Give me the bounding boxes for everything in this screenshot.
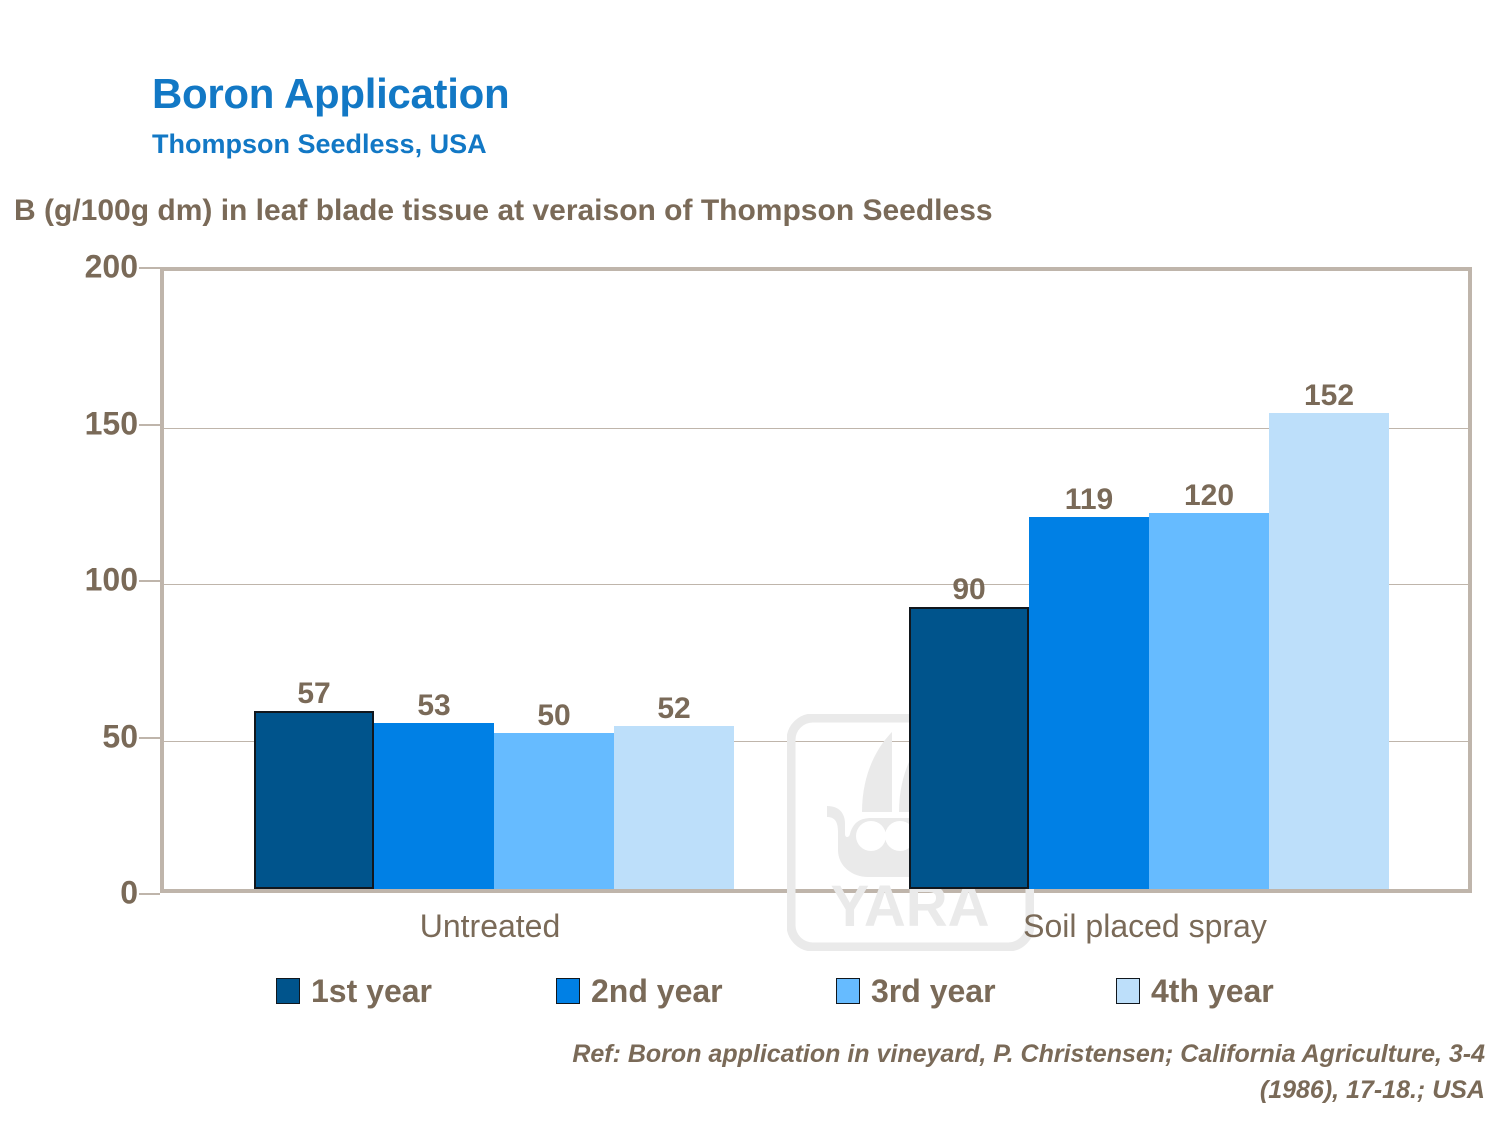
- legend-label: 3rd year: [871, 973, 996, 1010]
- bar: [614, 726, 734, 889]
- y-axis-tick-mark: [139, 737, 160, 739]
- category-label: Soil placed spray: [905, 908, 1385, 945]
- legend-label: 4th year: [1151, 973, 1274, 1010]
- bar-value-label: 120: [1149, 479, 1269, 513]
- legend-label: 2nd year: [591, 973, 723, 1010]
- y-axis-tick-label: 100: [18, 562, 138, 599]
- bar: [1029, 517, 1149, 889]
- bar-value-label: 53: [374, 689, 494, 723]
- legend-item[interactable]: 4th year: [1116, 973, 1396, 1010]
- y-axis-tick-label: 0: [18, 875, 138, 912]
- bar-value-label: 57: [254, 677, 374, 711]
- bar: [1269, 413, 1389, 889]
- legend-item[interactable]: 3rd year: [836, 973, 1116, 1010]
- legend-label: 1st year: [311, 973, 432, 1010]
- bar-value-label: 52: [614, 692, 734, 726]
- bar: [254, 711, 374, 889]
- y-axis-tick-mark: [139, 580, 160, 582]
- y-axis-tick-label: 200: [18, 249, 138, 286]
- plot-area: YARA 5753505290119120152: [160, 267, 1472, 893]
- bar-value-label: 119: [1029, 483, 1149, 517]
- bar-value-label: 152: [1269, 379, 1389, 413]
- legend-swatch-icon: [836, 978, 860, 1004]
- y-axis-tick-label: 150: [18, 405, 138, 442]
- chart-title: B (g/100g dm) in leaf blade tissue at ve…: [14, 194, 993, 228]
- slide-subtitle: Thompson Seedless, USA: [152, 129, 487, 160]
- y-axis-tick-label: 50: [18, 718, 138, 755]
- legend-item[interactable]: 1st year: [276, 973, 556, 1010]
- bar: [374, 723, 494, 889]
- bar: [909, 607, 1029, 889]
- y-axis-tick-mark: [139, 893, 160, 895]
- reference-line-2: (1986), 17-18.; USA: [200, 1073, 1485, 1109]
- bar: [1149, 513, 1269, 889]
- category-label: Untreated: [250, 908, 730, 945]
- legend-item[interactable]: 2nd year: [556, 973, 836, 1010]
- bar-value-label: 90: [909, 573, 1029, 607]
- legend-swatch-icon: [1116, 978, 1140, 1004]
- chart-legend: 1st year2nd year3rd year4th year: [276, 967, 1396, 1015]
- y-axis-tick-mark: [139, 424, 160, 426]
- reference-line-1: Ref: Boron application in vineyard, P. C…: [200, 1037, 1485, 1073]
- legend-swatch-icon: [556, 978, 580, 1004]
- bar: [494, 733, 614, 890]
- reference-note: Ref: Boron application in vineyard, P. C…: [200, 1037, 1485, 1108]
- bar-value-label: 50: [494, 699, 614, 733]
- legend-swatch-icon: [276, 978, 300, 1004]
- y-axis-tick-mark: [139, 267, 160, 269]
- slide-title: Boron Application: [152, 70, 509, 118]
